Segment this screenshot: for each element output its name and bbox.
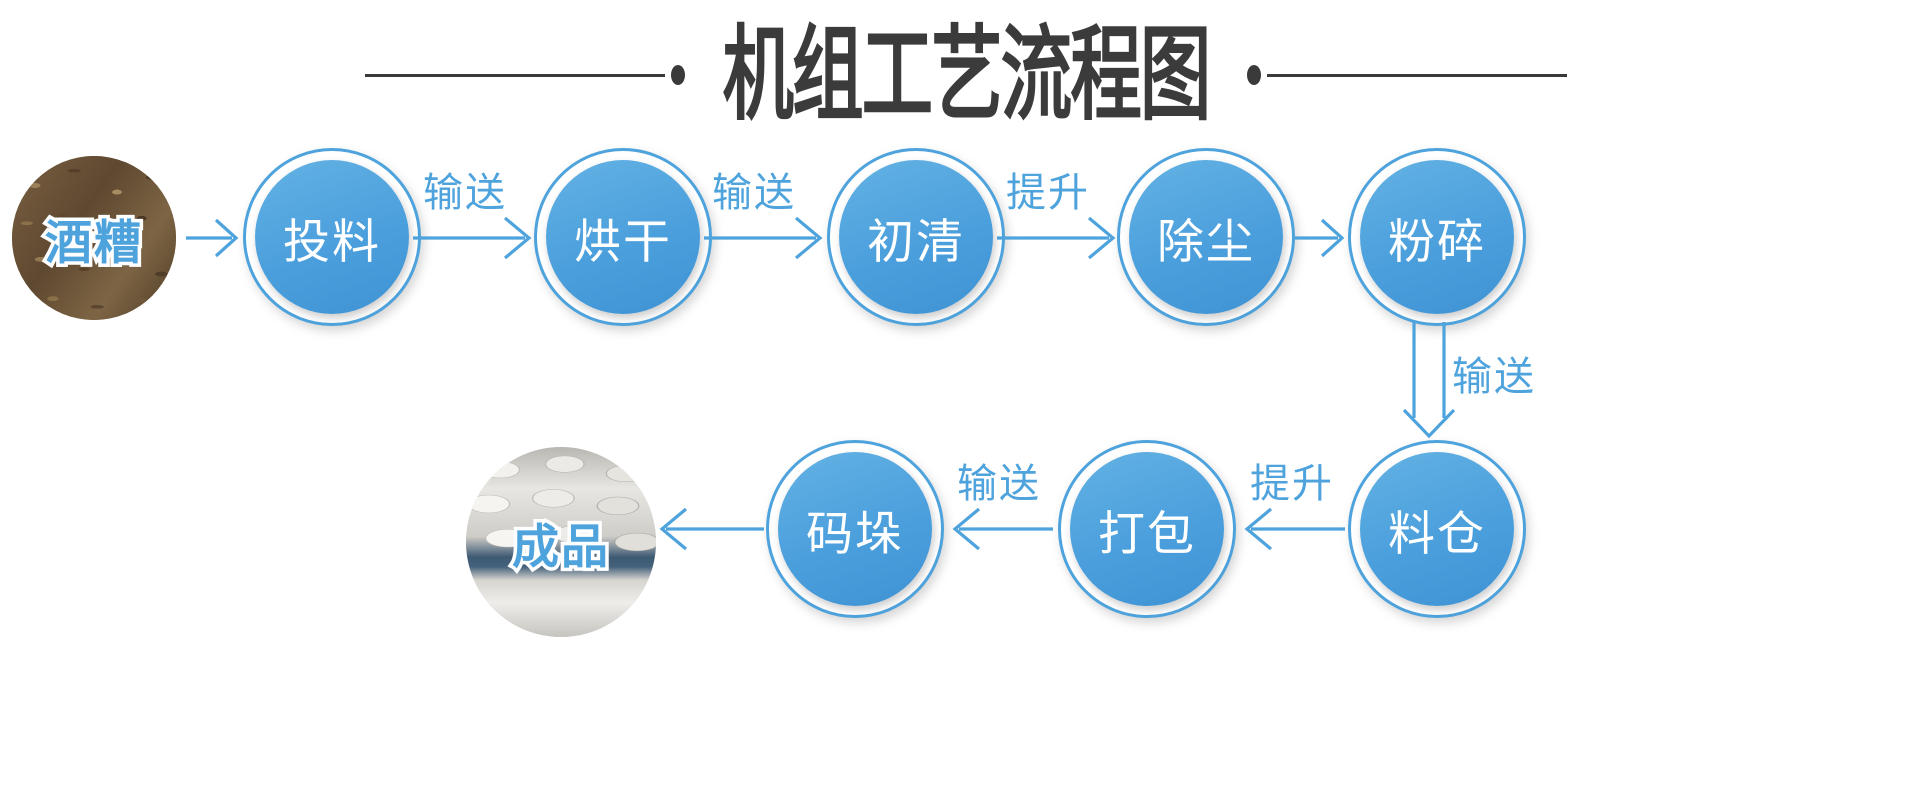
node-silo-label: 料仓 — [1388, 495, 1486, 564]
node-drying-disc: 烘干 — [546, 160, 700, 314]
node-packing[interactable]: 打包 — [1058, 440, 1236, 618]
arrow-packing-to-stacking-label: 输送 — [957, 451, 1041, 509]
arrow-silo-to-packing-label: 提升 — [1250, 451, 1334, 509]
arrow-feeding-to-drying-label: 输送 — [423, 160, 507, 218]
node-dedusting-label: 除尘 — [1157, 203, 1255, 272]
node-drying[interactable]: 烘干 — [534, 148, 712, 326]
title-dot-left-icon — [671, 65, 685, 85]
diagram-title-bar: 机组工艺流程图 — [0, 20, 1931, 130]
title-rule-right — [1267, 74, 1567, 77]
node-cleaning-label: 初清 — [867, 203, 965, 272]
arrow-raw-to-feeding — [186, 212, 248, 268]
title-dot-right-icon — [1247, 65, 1261, 85]
node-crushing[interactable]: 粉碎 — [1348, 148, 1526, 326]
node-cleaning-disc: 初清 — [839, 160, 993, 314]
node-stacking-label: 码垛 — [806, 495, 904, 564]
node-dedusting[interactable]: 除尘 — [1117, 148, 1295, 326]
node-feeding-label: 投料 — [283, 203, 381, 272]
arrow-stacking-to-product — [652, 503, 774, 559]
node-crushing-label: 粉碎 — [1388, 203, 1486, 272]
arrow-drying-to-cleaning-label: 输送 — [712, 160, 796, 218]
arrow-cleaning-to-dedusting-label: 提升 — [1006, 160, 1090, 218]
arrow-drying-to-cleaning — [704, 212, 834, 268]
node-feeding-disc: 投料 — [255, 160, 409, 314]
node-raw-material-label: 酒糟 — [45, 204, 143, 273]
node-silo-disc: 料仓 — [1360, 452, 1514, 606]
arrow-feeding-to-drying — [413, 212, 543, 268]
node-dedusting-disc: 除尘 — [1129, 160, 1283, 314]
arrow-crushing-to-silo — [1392, 322, 1490, 444]
node-raw-material[interactable]: 酒糟 — [12, 156, 176, 320]
node-finished-product[interactable]: 成品 — [466, 447, 656, 637]
node-stacking-disc: 码垛 — [778, 452, 932, 606]
node-packing-label: 打包 — [1098, 495, 1196, 564]
arrow-silo-to-packing — [1237, 503, 1359, 559]
node-cleaning[interactable]: 初清 — [827, 148, 1005, 326]
node-stacking[interactable]: 码垛 — [766, 440, 944, 618]
node-packing-disc: 打包 — [1070, 452, 1224, 606]
arrow-cleaning-to-dedusting — [997, 212, 1127, 268]
arrow-packing-to-stacking — [945, 503, 1067, 559]
arrow-dedusting-to-crushing — [1292, 212, 1354, 268]
node-crushing-disc: 粉碎 — [1360, 160, 1514, 314]
node-feeding[interactable]: 投料 — [243, 148, 421, 326]
process-flow-diagram: 机组工艺流程图 酒糟 投料 烘干 初清 除尘 粉碎 — [0, 0, 1931, 797]
node-finished-product-label: 成品 — [512, 508, 610, 577]
node-silo[interactable]: 料仓 — [1348, 440, 1526, 618]
page-title: 机组工艺流程图 — [707, 24, 1224, 127]
node-drying-label: 烘干 — [574, 203, 672, 272]
title-rule-left — [365, 74, 665, 77]
